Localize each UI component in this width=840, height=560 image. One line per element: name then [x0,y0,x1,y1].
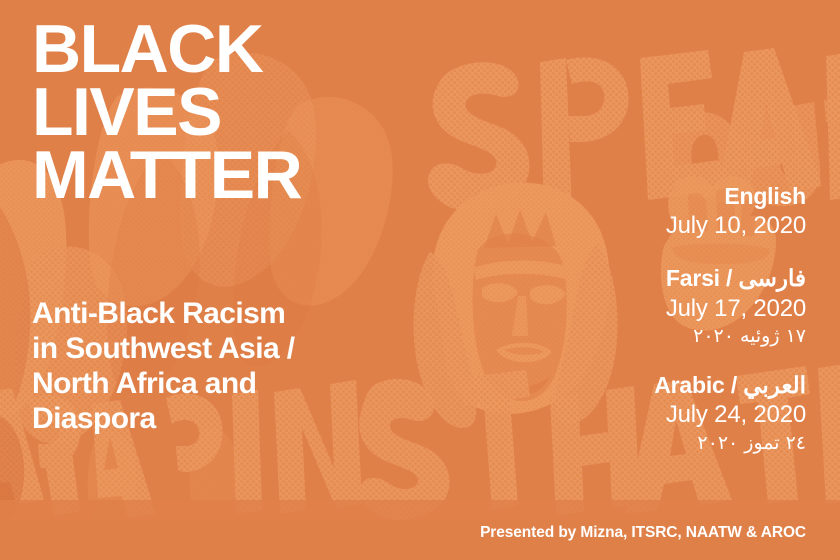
poster-canvas: BLACK LIVES MATTER Anti-Black Racism in … [0,0,840,560]
headline-line-2: LIVES [32,81,462,144]
schedule-item-arabic: Arabic / العربي July 24, 2020 ٢٤ تموز ٢٠… [446,371,806,456]
headline-line-1: BLACK [32,18,462,81]
subtitle-line-1: Anti-Black Racism [32,296,432,331]
presenter-credit: Presented by Mizna, ITSRC, NAATW & AROC [480,524,806,542]
schedule-language-farsi: Farsi / فارسی [446,264,806,293]
headline-line-3: MATTER [32,144,462,207]
schedule-list: English July 10, 2020 Farsi / فارسی July… [446,182,806,456]
subtitle-line-4: Diaspora [32,401,432,436]
subtitle-line-3: North Africa and [32,366,432,401]
headline-block: BLACK LIVES MATTER [32,18,462,208]
schedule-item-english: English July 10, 2020 [446,182,806,242]
poster-content: BLACK LIVES MATTER Anti-Black Racism in … [0,0,840,560]
schedule-item-farsi: Farsi / فارسی July 17, 2020 ۱۷ ژوئیه ۲۰۲… [446,264,806,349]
subtitle-line-2: in Southwest Asia / [32,331,432,366]
schedule-date-farsi: July 17, 2020 [446,294,806,325]
subtitle: Anti-Black Racism in Southwest Asia / No… [32,296,432,436]
schedule-date-native-farsi: ۱۷ ژوئیه ۲۰۲۰ [446,324,806,349]
schedule-date-native-arabic: ٢٤ تموز ٢٠٢٠ [446,431,806,456]
schedule-date-english: July 10, 2020 [446,211,806,242]
schedule-date-arabic: July 24, 2020 [446,400,806,431]
schedule-language-english: English [446,182,806,211]
page-title: BLACK LIVES MATTER [32,18,462,208]
schedule-language-arabic: Arabic / العربي [446,371,806,400]
